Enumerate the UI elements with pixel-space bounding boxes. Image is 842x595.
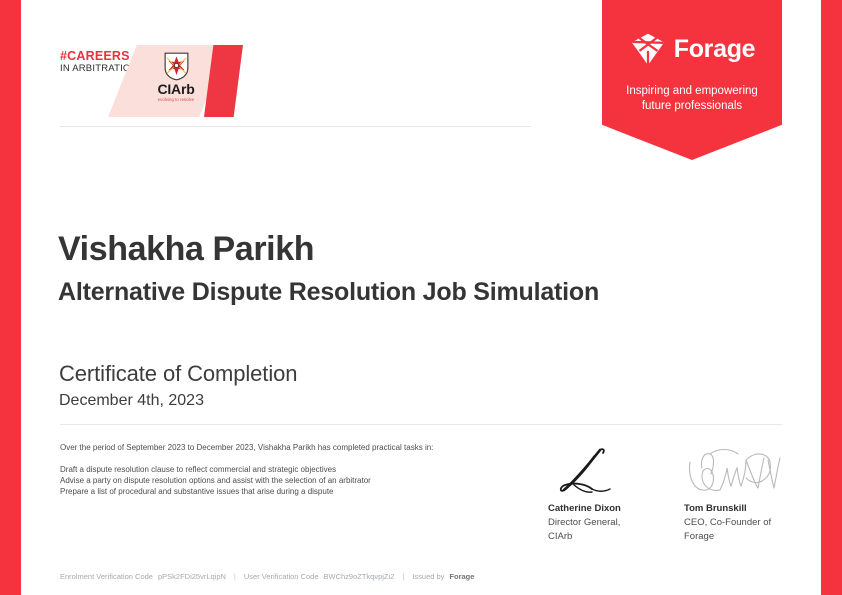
signatory-role-line-1: CEO, Co-Founder of bbox=[684, 516, 788, 530]
certificate-page: Forage Inspiring and empowering future p… bbox=[0, 0, 842, 595]
forage-tagline: Inspiring and empowering future professi… bbox=[617, 84, 767, 114]
ciarb-parallelogram-group: CIArb evolving to resolve bbox=[108, 45, 243, 117]
enrolment-verification-code: pPSk2FDi25vrLqipN bbox=[158, 571, 226, 582]
right-red-bar bbox=[821, 0, 842, 595]
ciarb-shield-icon bbox=[164, 52, 189, 81]
footer-separator: | bbox=[231, 571, 239, 582]
signature-catherine-dixon: Catherine Dixon Director General, CIArb bbox=[548, 444, 652, 544]
signatory-name: Tom Brunskill bbox=[684, 502, 788, 516]
ciarb-strapline: evolving to resolve bbox=[146, 96, 206, 103]
recipient-name: Vishakha Parikh bbox=[58, 228, 314, 270]
signatory-role-line-2: CIArb bbox=[548, 530, 652, 544]
ciarb-logo: #CAREERS IN ARBITRATION CIArb evolving t… bbox=[60, 45, 250, 117]
signatory-name: Catherine Dixon bbox=[548, 502, 652, 516]
user-verification-code: BWChz9oZTkqvpjZi2 bbox=[324, 571, 395, 582]
forage-gem-icon bbox=[629, 30, 667, 68]
task-item: Prepare a list of procedural and substan… bbox=[60, 486, 520, 497]
issued-by-label: Issued by bbox=[412, 571, 444, 582]
forage-tagline-line-1: Inspiring and empowering bbox=[626, 85, 758, 97]
signatory-role-line-2: Forage bbox=[684, 530, 788, 544]
forage-logo-lockup: Forage bbox=[629, 30, 756, 68]
forage-wordmark: Forage bbox=[674, 37, 756, 62]
issuer-name: Forage bbox=[449, 571, 474, 582]
signatory-role-line-1: Director General, bbox=[548, 516, 652, 530]
signature-mark-icon bbox=[548, 444, 652, 500]
enrolment-verification-label: Enrolment Verification Code bbox=[60, 571, 153, 582]
footer-separator: | bbox=[399, 571, 407, 582]
ciarb-name-label: CIArb bbox=[146, 82, 206, 96]
tasks-block: Over the period of September 2023 to Dec… bbox=[60, 442, 520, 497]
signature-block: Catherine Dixon Director General, CIArb … bbox=[548, 444, 788, 544]
task-item: Advise a party on dispute resolution opt… bbox=[60, 475, 520, 486]
user-verification-label: User Verification Code bbox=[244, 571, 319, 582]
forage-banner: Forage Inspiring and empowering future p… bbox=[602, 0, 782, 160]
program-title: Alternative Dispute Resolution Job Simul… bbox=[58, 274, 628, 310]
ciarb-mark: CIArb evolving to resolve bbox=[146, 52, 206, 103]
certificate-kind: Certificate of Completion bbox=[59, 360, 297, 388]
footer-verification: Enrolment Verification Code pPSk2FDi25vr… bbox=[60, 571, 474, 582]
divider-middle bbox=[60, 424, 782, 425]
tasks-intro: Over the period of September 2023 to Dec… bbox=[60, 442, 520, 454]
certificate-date: December 4th, 2023 bbox=[59, 390, 204, 412]
signature-mark-icon bbox=[684, 444, 788, 500]
divider-top bbox=[60, 126, 531, 127]
forage-tagline-line-2: future professionals bbox=[642, 100, 742, 112]
signature-tom-brunskill: Tom Brunskill CEO, Co-Founder of Forage bbox=[684, 444, 788, 544]
left-red-bar bbox=[0, 0, 21, 595]
task-item: Draft a dispute resolution clause to ref… bbox=[60, 464, 520, 475]
